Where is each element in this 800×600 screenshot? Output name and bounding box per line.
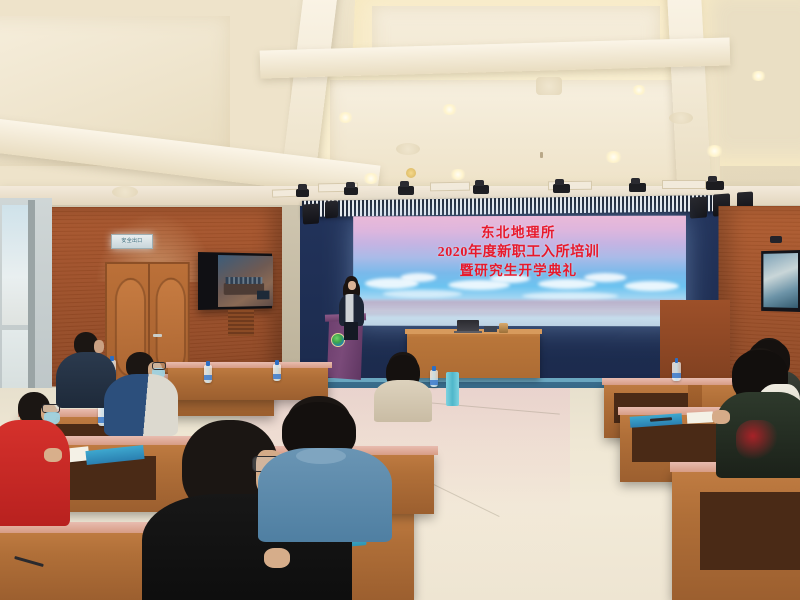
desk-top	[166, 362, 332, 368]
sprinkler-head	[540, 152, 543, 158]
ceiling-diffuser	[396, 143, 420, 155]
hand	[264, 548, 290, 568]
name-plate	[484, 326, 497, 332]
left-wall-monitor-screen	[218, 255, 273, 307]
glasses	[152, 362, 166, 370]
downlight-icon	[449, 169, 467, 180]
stage-spotlight	[473, 185, 489, 194]
ceiling-coffer-mid-inner	[330, 80, 690, 192]
downlight-icon	[441, 104, 458, 115]
downlight-icon	[337, 112, 354, 123]
attendee-right-hoodie	[716, 348, 800, 472]
remote-room-people	[226, 277, 263, 284]
screen-title-line-2: 2020年度新职工入所培训	[352, 243, 685, 262]
downlight-icon	[750, 71, 767, 81]
stage-spotlight	[296, 189, 309, 197]
conference-hall-photo: 东北地理所 2020年度新职工入所培训 暨研究生开学典礼 安全出口	[0, 0, 800, 600]
exit-sign-label: 安全出口	[112, 235, 152, 248]
wall-speaker	[690, 196, 707, 218]
torso	[374, 380, 432, 422]
desk-row-left-back	[168, 366, 328, 400]
desk-opening	[632, 424, 718, 462]
ceiling-camera-icon	[770, 236, 782, 243]
torso	[0, 420, 70, 526]
screen-title-text: 东北地理所 2020年度新职工入所培训 暨研究生开学典礼	[352, 224, 685, 296]
screen-title-line-3: 暨研究生开学典礼	[352, 262, 685, 281]
notebook-paper[interactable]	[687, 411, 714, 423]
ceiling-diffuser	[669, 112, 693, 124]
water-bottle[interactable]	[204, 365, 212, 383]
speaker-at-podium	[336, 276, 366, 336]
door-handle[interactable]	[153, 334, 162, 337]
monitor-wall-mount	[228, 310, 254, 336]
window-glass-upper	[2, 205, 28, 325]
downlight-icon	[604, 151, 623, 163]
stage-spotlight	[706, 181, 724, 190]
collar	[296, 448, 346, 464]
small-trophy	[499, 323, 508, 333]
hoodie-graphic	[736, 420, 778, 460]
pendant-lamp	[406, 168, 416, 178]
desk-opening	[700, 492, 800, 570]
attendee-denim-blue	[262, 396, 388, 532]
ceiling-light-panel	[662, 180, 706, 189]
ceiling-diffuser	[112, 186, 138, 198]
exit-sign: 安全出口	[111, 234, 153, 249]
hand	[44, 448, 62, 462]
right-wall-monitor-screen	[763, 253, 798, 308]
remote-room-screen	[257, 291, 269, 300]
downlight-icon	[362, 173, 380, 184]
ceiling-speaker-grille	[536, 77, 562, 95]
wall-speaker	[325, 201, 338, 219]
screen-title-line-1: 东北地理所	[352, 224, 685, 243]
water-bottle[interactable]	[273, 364, 281, 381]
wall-speaker	[303, 203, 319, 224]
attendee-right-beige	[374, 352, 432, 414]
stage-spotlight	[553, 184, 570, 193]
desk-opening	[64, 456, 156, 500]
water-bottle[interactable]	[672, 362, 681, 381]
ceiling-light-panel	[430, 182, 470, 192]
face-profile	[94, 340, 104, 353]
attendee-red-jacket	[0, 392, 74, 532]
attendee-vest-blue	[104, 352, 180, 430]
laptop-base	[454, 331, 482, 333]
downlight-icon	[631, 85, 647, 95]
hand	[712, 410, 730, 424]
stage-spotlight	[398, 186, 414, 195]
screen-skyline-graphic	[352, 300, 685, 316]
speaker-face	[348, 281, 356, 290]
stage-spotlight	[344, 187, 358, 195]
stage-spotlight	[629, 183, 646, 192]
blue-tumbler[interactable]	[446, 372, 459, 406]
speaker-legs	[344, 322, 358, 340]
downlight-icon	[705, 145, 724, 157]
